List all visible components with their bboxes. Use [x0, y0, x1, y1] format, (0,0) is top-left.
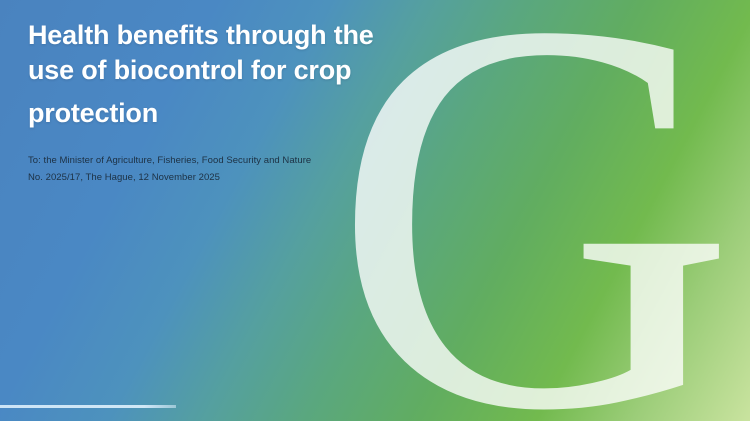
page-title-line-1: Health benefits through the: [28, 18, 428, 53]
cover-metadata: To: the Minister of Agriculture, Fisheri…: [28, 153, 428, 187]
bottom-divider-rule: [0, 405, 176, 408]
cover-text-block: Health benefits through the use of bioco…: [28, 18, 428, 186]
publication-reference-line: No. 2025/17, The Hague, 12 November 2025: [28, 170, 428, 187]
page-title-line-3: protection: [28, 96, 428, 131]
page-title: Health benefits through the use of bioco…: [28, 18, 428, 131]
page-title-line-2: use of biocontrol for crop: [28, 53, 428, 88]
addressee-line: To: the Minister of Agriculture, Fisheri…: [28, 153, 428, 170]
report-cover-page: G Health benefits through the use of bio…: [0, 0, 750, 421]
